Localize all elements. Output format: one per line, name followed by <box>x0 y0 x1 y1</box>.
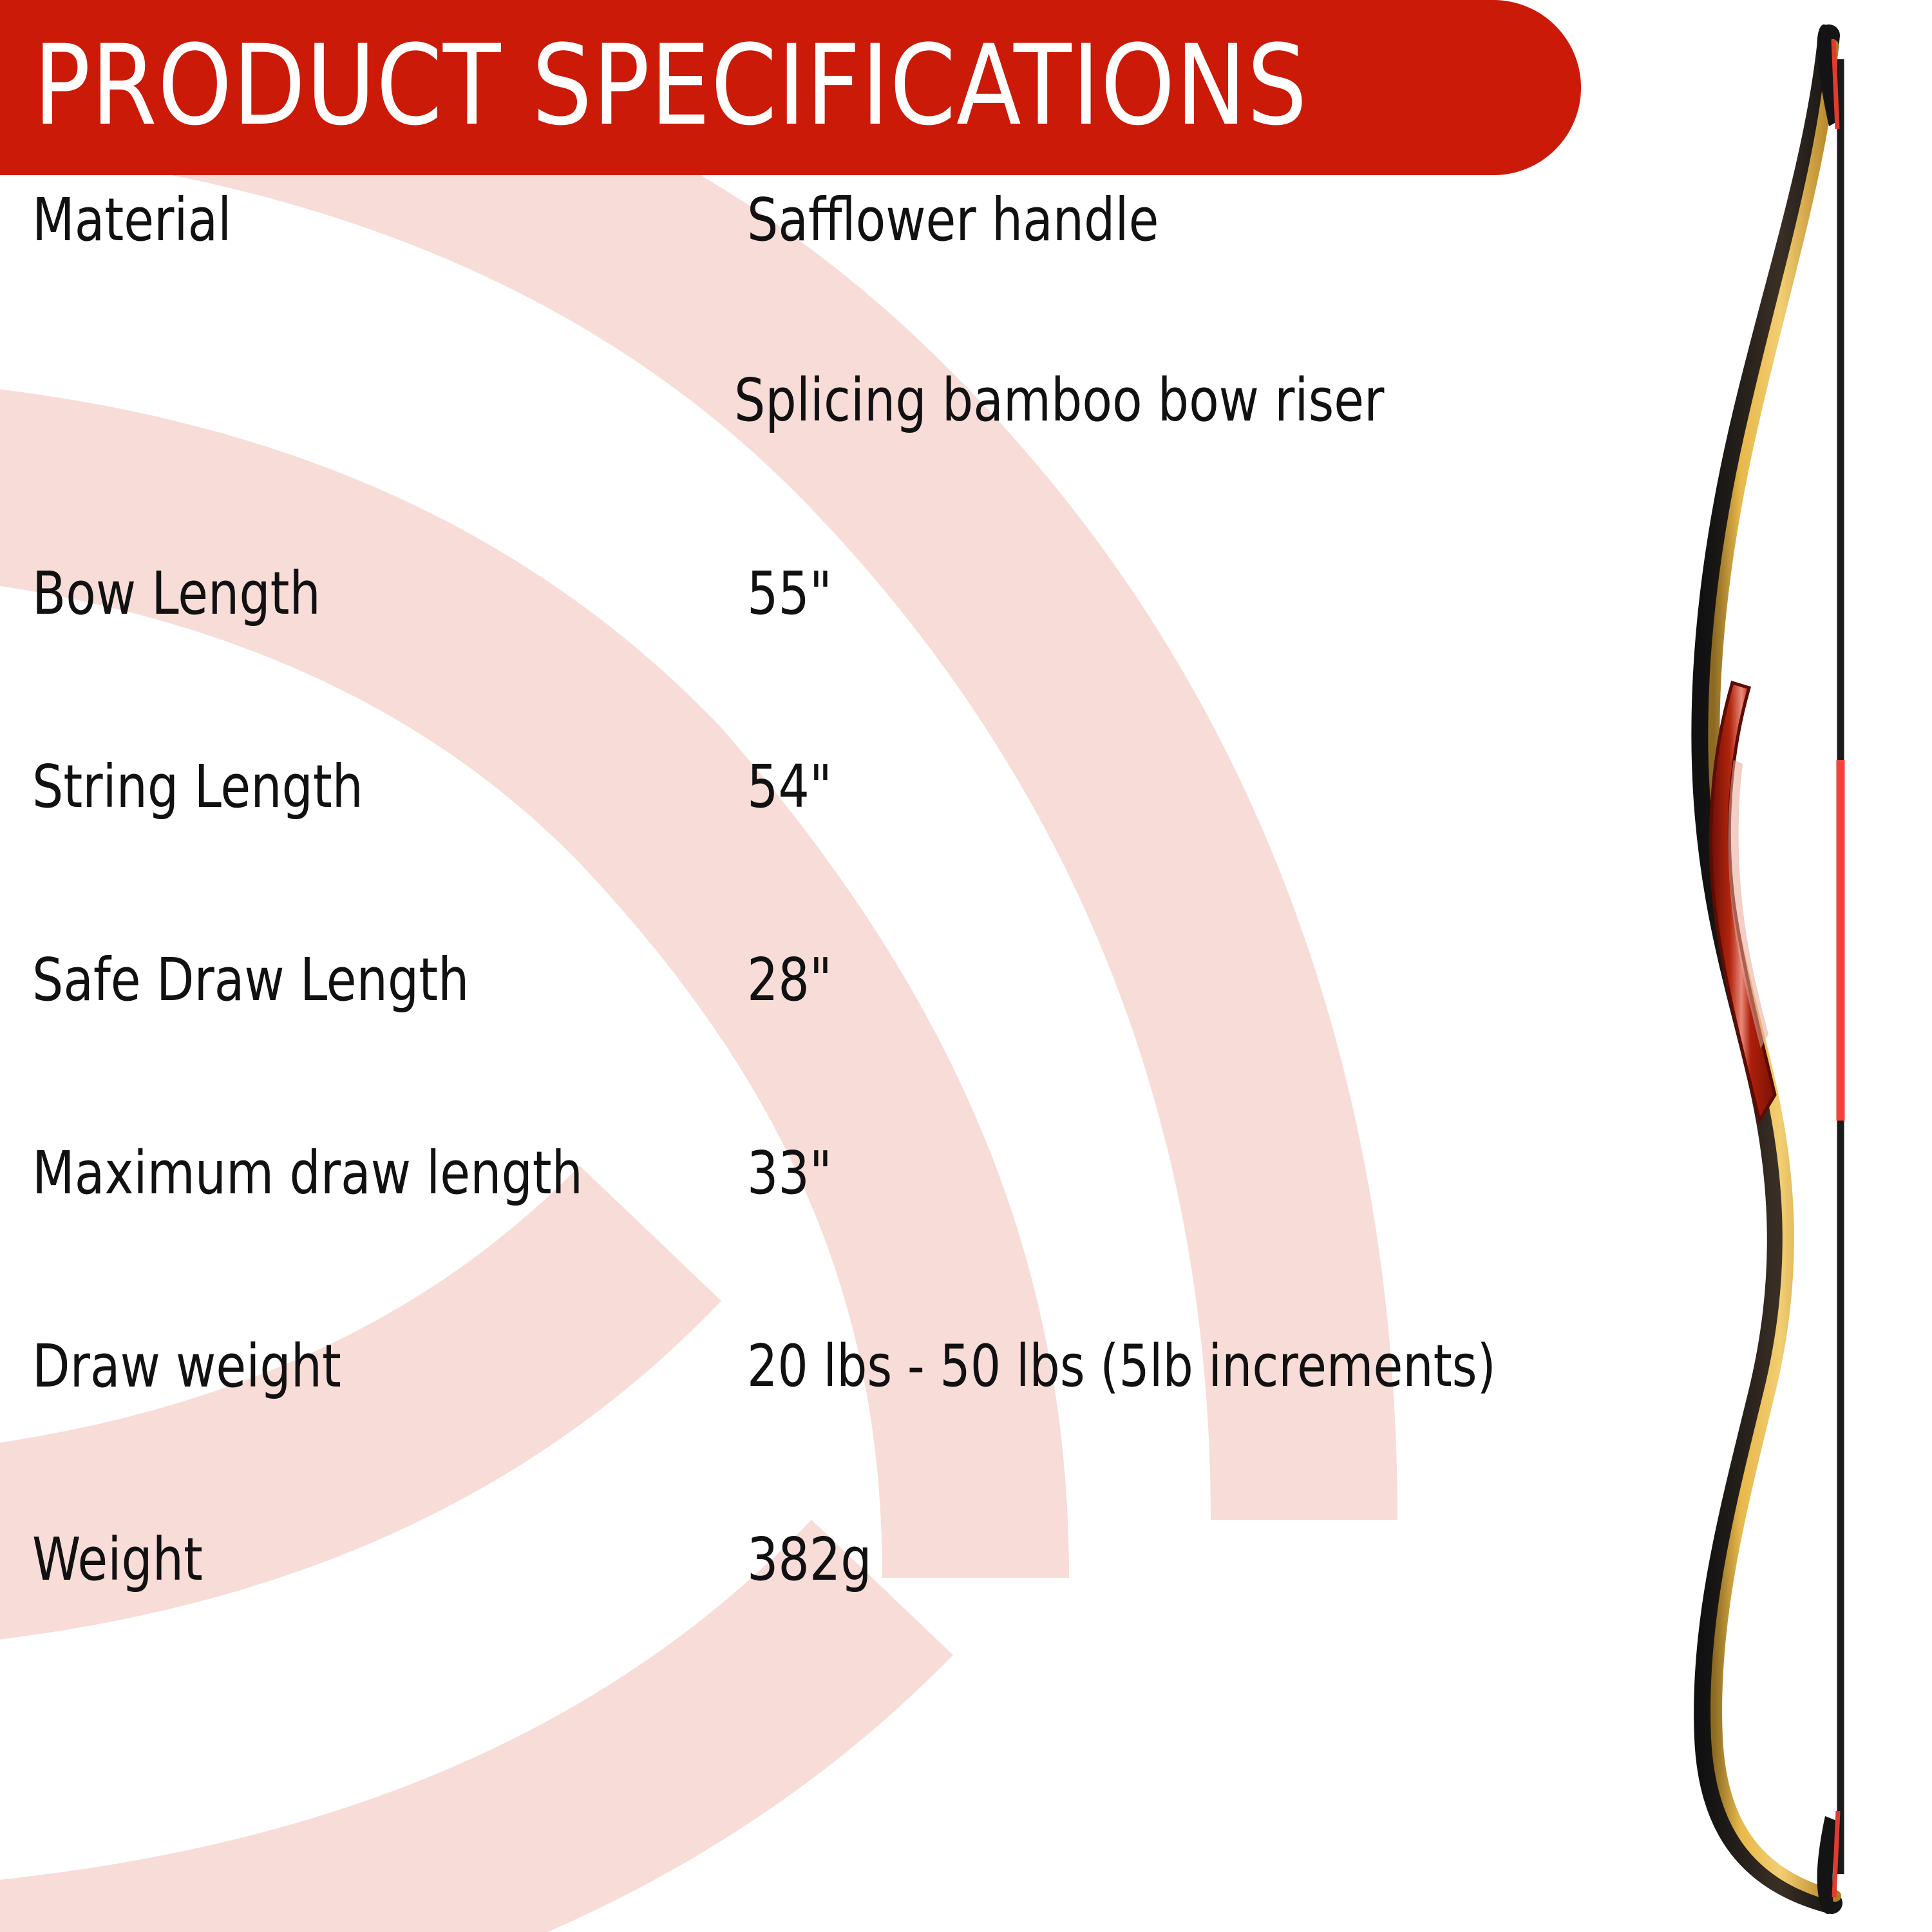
spec-value-maximum-draw-length: 33" <box>747 1135 832 1212</box>
table-row: Splicing bamboo bow riser <box>0 362 1591 439</box>
spec-label-bow-length: Bow Length <box>32 555 321 632</box>
spec-label-safe-draw-length: Safe Draw Length <box>32 942 469 1019</box>
spec-value-material-continued: Splicing bamboo bow riser <box>734 362 1384 439</box>
spec-value-weight: 382g <box>747 1521 872 1598</box>
spec-label-string-length: String Length <box>32 748 363 826</box>
specification-table: Material Safflower handle Splicing bambo… <box>0 175 1591 1932</box>
spec-value-bow-length: 55" <box>747 555 832 632</box>
table-row: Maximum draw length 33" <box>0 1135 1591 1212</box>
spec-label-draw-weight: Draw weight <box>32 1328 341 1405</box>
table-row: Bow Length 55" <box>0 555 1591 632</box>
spec-label-maximum-draw-length: Maximum draw length <box>32 1135 583 1212</box>
bow-riser-handle <box>1710 683 1775 1121</box>
product-image-recurve-bow <box>1571 0 1932 1932</box>
spec-label-material: Material <box>32 182 231 259</box>
product-spec-page: PRODUCT SPECIFICATIONS Material Safflowe… <box>0 0 1932 1932</box>
spec-value-safe-draw-length: 28" <box>747 942 832 1019</box>
table-row: Weight 382g <box>0 1521 1591 1598</box>
spec-label-weight: Weight <box>32 1521 203 1598</box>
table-row: String Length 54" <box>0 748 1591 826</box>
table-row: Draw weight 20 lbs - 50 lbs (5lb increme… <box>0 1328 1591 1405</box>
table-row: Safe Draw Length 28" <box>0 942 1591 1019</box>
spec-value-draw-weight: 20 lbs - 50 lbs (5lb increments) <box>747 1328 1496 1405</box>
header-banner: PRODUCT SPECIFICATIONS <box>0 0 1581 175</box>
table-row: Material Safflower handle <box>0 182 1591 259</box>
spec-value-material: Safflower handle <box>747 182 1159 259</box>
page-title: PRODUCT SPECIFICATIONS <box>33 5 1416 166</box>
spec-value-string-length: 54" <box>747 748 832 826</box>
